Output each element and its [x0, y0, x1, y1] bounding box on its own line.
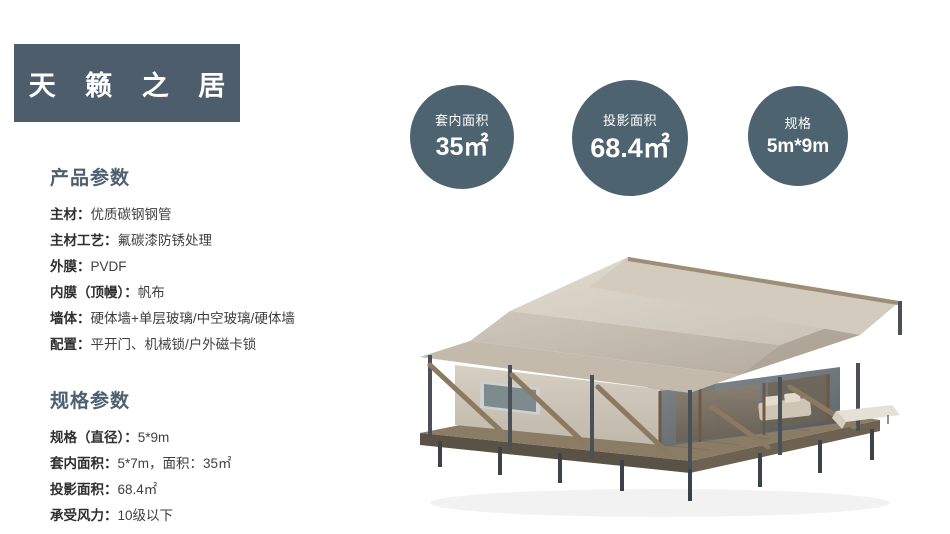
spec-value: 氟碳漆防锈处理 — [118, 233, 213, 248]
spec-value: 优质碳钢钢管 — [91, 207, 172, 222]
spec-value: 68.4㎡ — [118, 482, 158, 497]
spec-row: 套内面积：5*7m，面积：35㎡ — [50, 451, 380, 477]
spec-row: 投影面积：68.4㎡ — [50, 477, 380, 503]
spec-label: 主材工艺： — [50, 233, 118, 248]
spec-value: PVDF — [91, 259, 127, 274]
stat-label: 投影面积 — [603, 112, 657, 130]
section-heading-product: 产品参数 — [50, 163, 380, 190]
stat-label: 套内面积 — [435, 112, 489, 130]
ground-shadow — [430, 489, 890, 517]
spec-value: 平开门、机械锁/户外磁卡锁 — [91, 337, 257, 352]
stat-circle-interior-area: 套内面积 35㎡ — [410, 85, 514, 189]
spec-label: 套内面积： — [50, 456, 118, 471]
spec-value: 10级以下 — [118, 508, 174, 523]
tent-house-illustration — [360, 215, 940, 525]
stat-label: 规格 — [784, 115, 811, 133]
spec-value: 5*9m — [138, 430, 170, 445]
spec-value: 帆布 — [138, 285, 165, 300]
spec-label: 内膜（顶幔）： — [50, 285, 138, 300]
title-banner: 天 籁 之 居 — [14, 44, 240, 122]
spec-label: 主材： — [50, 207, 91, 222]
spec-label: 外膜： — [50, 259, 91, 274]
spec-row: 主材工艺：氟碳漆防锈处理 — [50, 228, 380, 254]
tent-house-render — [360, 215, 940, 525]
spec-label: 规格（直径）： — [50, 430, 138, 445]
spec-row: 外膜：PVDF — [50, 254, 380, 280]
spec-row: 内膜（顶幔）：帆布 — [50, 280, 380, 306]
stat-value: 5m*9m — [767, 137, 829, 158]
page-title: 天 籁 之 居 — [18, 64, 237, 103]
spec-row: 规格（直径）：5*9m — [50, 425, 380, 451]
spec-label: 投影面积： — [50, 482, 118, 497]
spec-value: 硬体墙+单层玻璃/中空玻璃/硬体墙 — [91, 311, 295, 326]
spec-label: 配置： — [50, 337, 91, 352]
stat-circle-projected-area: 投影面积 68.4㎡ — [572, 80, 688, 196]
spec-row: 主材：优质碳钢钢管 — [50, 202, 380, 228]
section-heading-specification: 规格参数 — [50, 386, 380, 413]
page-root: 天 籁 之 居 产品参数 主材：优质碳钢钢管 主材工艺：氟碳漆防锈处理 外膜：P… — [0, 0, 950, 534]
spec-row: 墙体：硬体墙+单层玻璃/中空玻璃/硬体墙 — [50, 306, 380, 332]
spec-row: 配置：平开门、机械锁/户外磁卡锁 — [50, 332, 380, 358]
spec-row: 承受风力：10级以下 — [50, 503, 380, 529]
spec-value: 5*7m，面积：35㎡ — [118, 456, 232, 471]
stat-value: 35㎡ — [436, 134, 489, 162]
spec-label: 承受风力： — [50, 508, 118, 523]
stat-circle-dimensions: 规格 5m*9m — [748, 86, 848, 186]
specifications-panel: 产品参数 主材：优质碳钢钢管 主材工艺：氟碳漆防锈处理 外膜：PVDF 内膜（顶… — [50, 163, 380, 529]
spec-label: 墙体： — [50, 311, 91, 326]
stat-value: 68.4㎡ — [590, 134, 670, 164]
